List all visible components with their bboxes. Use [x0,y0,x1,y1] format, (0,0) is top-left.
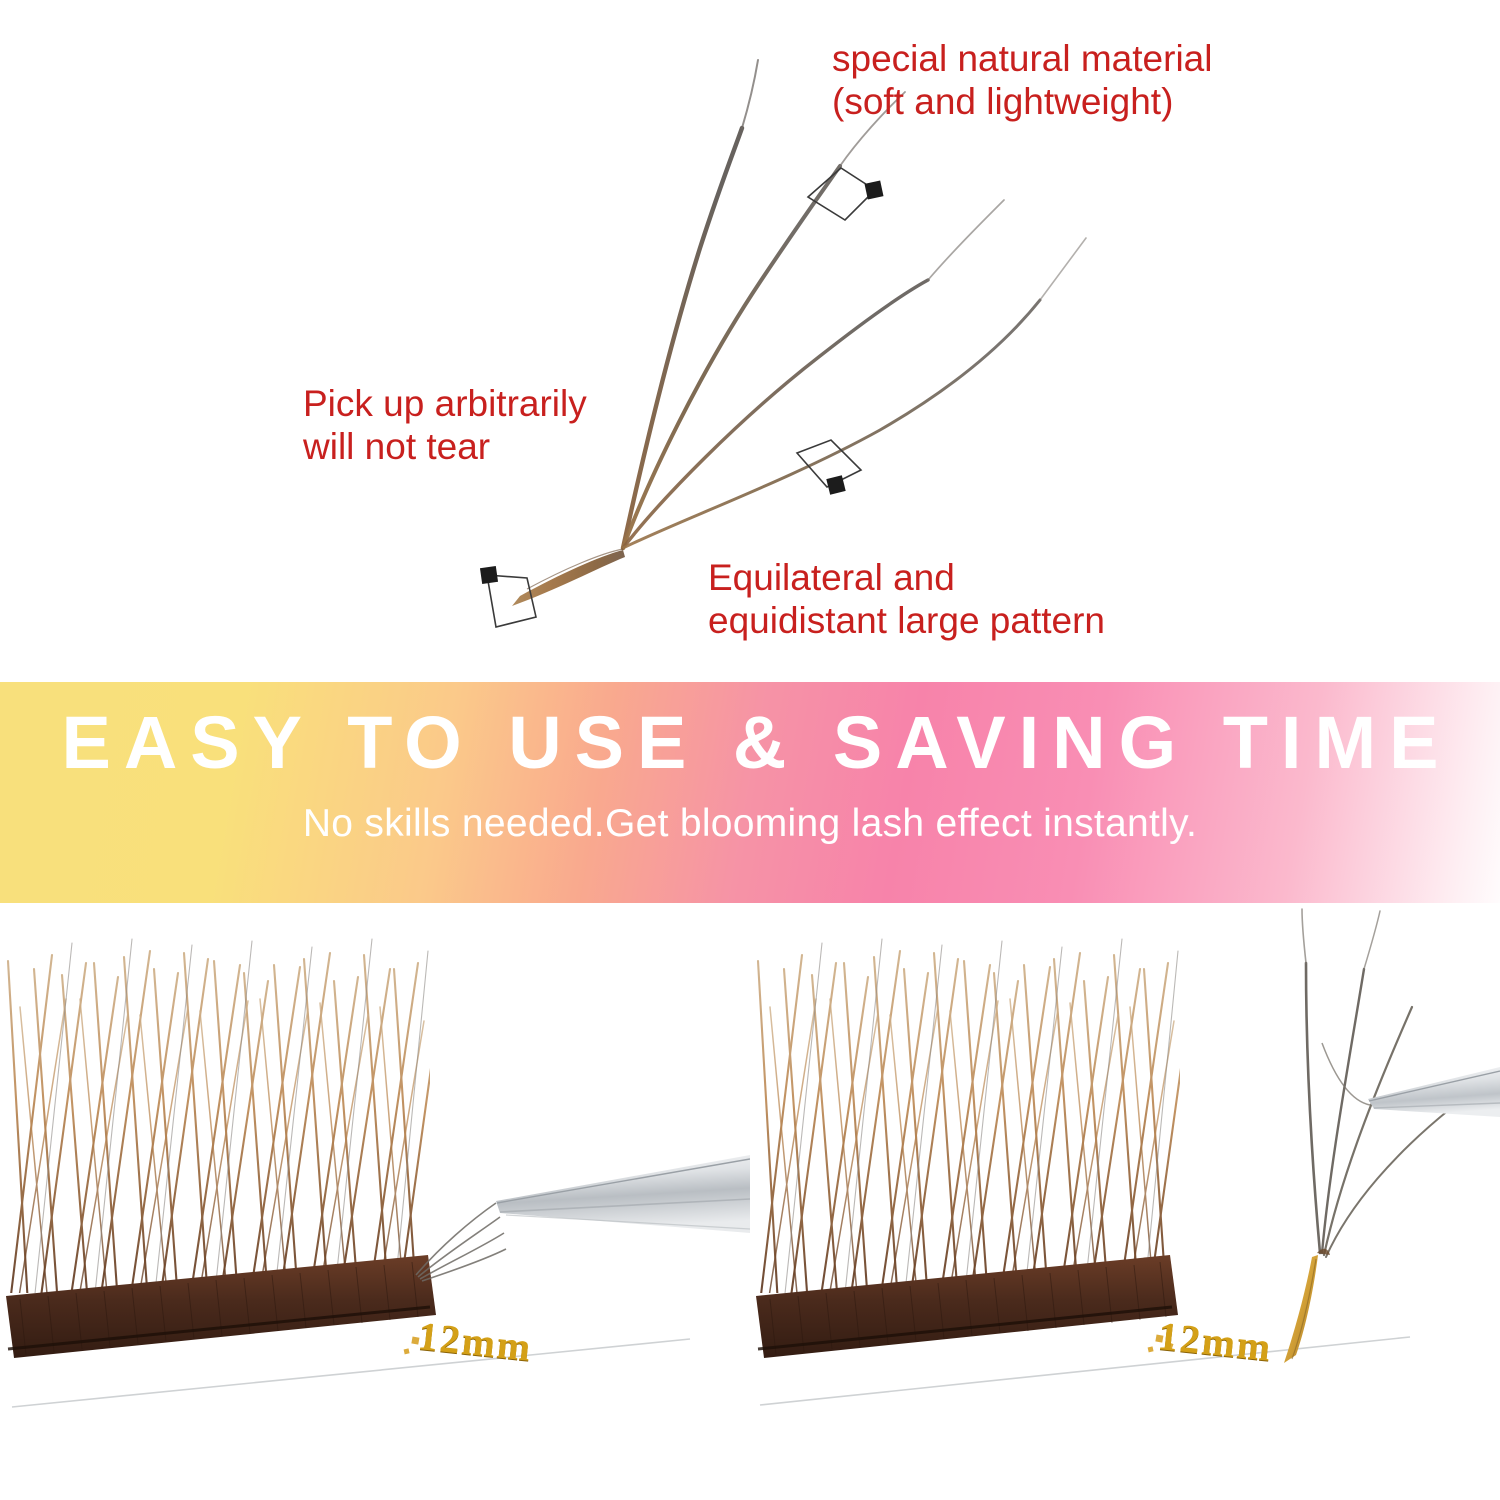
product-card-right [758,1333,1422,1441]
lash-fan-base [512,549,625,606]
special-natural-material-callout: special natural material (soft and light… [832,38,1212,124]
pick-up-arbitrarily-callout: Pick up arbitrarily will not tear [303,383,587,469]
product-card-left [10,1335,700,1443]
lash-tray-illustration-right [750,903,1500,1500]
easy-to-use-banner: EASY TO USE & SAVING TIME No skills need… [0,682,1500,903]
lash-fiber-bed-right [758,939,1192,1306]
adhesive-strip-left [6,1255,436,1358]
lash-fibers [623,60,1086,548]
detached-lash-fan [1302,909,1450,1257]
product-marketing-page: special natural material (soft and light… [0,0,1500,1500]
banner-headline: EASY TO USE & SAVING TIME [0,706,1500,780]
banner-subtitle: No skills needed.Get blooming lash effec… [0,802,1500,846]
product-feature-diagram: special natural material (soft and light… [0,0,1500,682]
equilateral-pattern-callout: Equilateral and equidistant large patter… [708,557,1105,643]
lash-tray-with-picked-fan-photo: 12mm [750,903,1500,1500]
product-photos: 12mm [0,903,1500,1500]
tweezer-left [496,1155,750,1233]
tweezer-right [1368,1067,1500,1117]
lash-tray-with-tweezer-photo: 12mm [0,903,750,1500]
lash-fiber-bed-left [8,939,442,1306]
lash-tray-illustration-left [0,903,750,1500]
